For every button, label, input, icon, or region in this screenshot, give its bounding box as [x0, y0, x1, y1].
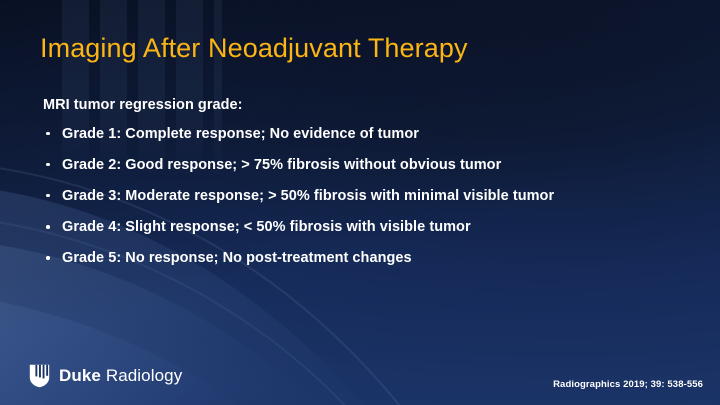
list-item: Grade 1: Complete response; No evidence … [43, 125, 683, 144]
list-item: Grade 2: Good response; > 75% fibrosis w… [43, 156, 683, 175]
list-item: Grade 3: Moderate response; > 50% fibros… [43, 187, 683, 206]
list-item-label: Grade 1: Complete response; No evidence … [62, 126, 419, 142]
citation-text: Radiographics 2019; 39: 538-556 [553, 379, 703, 390]
page-title: Imaging After Neoadjuvant Therapy [40, 33, 468, 64]
bullet-dot-icon [46, 163, 50, 167]
list-item-label: Grade 5: No response; No post-treatment … [62, 250, 412, 266]
slide-canvas: Imaging After Neoadjuvant Therapy MRI tu… [0, 0, 720, 405]
logo-unit-label: Radiology [106, 366, 183, 385]
logo-brand: Duke [59, 366, 101, 385]
lead-text: MRI tumor regression grade: [43, 96, 683, 116]
list-item: Grade 5: No response; No post-treatment … [43, 249, 683, 268]
list-item-label: Grade 2: Good response; > 75% fibrosis w… [62, 157, 501, 173]
bullet-dot-icon [46, 194, 50, 198]
duke-shield-icon [29, 364, 50, 388]
duke-radiology-logo: Duke Radiology [29, 364, 182, 388]
logo-wordmark: Duke Radiology [59, 366, 182, 386]
bullet-dot-icon [46, 225, 50, 229]
bullet-list: Grade 1: Complete response; No evidence … [43, 125, 683, 269]
body-content: MRI tumor regression grade: Grade 1: Com… [43, 96, 683, 281]
slide-content: Imaging After Neoadjuvant Therapy MRI tu… [0, 0, 720, 405]
bullet-dot-icon [46, 132, 50, 136]
list-item-label: Grade 3: Moderate response; > 50% fibros… [62, 188, 554, 204]
list-item-label: Grade 4: Slight response; < 50% fibrosis… [62, 219, 471, 235]
bullet-dot-icon [46, 256, 50, 260]
list-item: Grade 4: Slight response; < 50% fibrosis… [43, 218, 683, 237]
